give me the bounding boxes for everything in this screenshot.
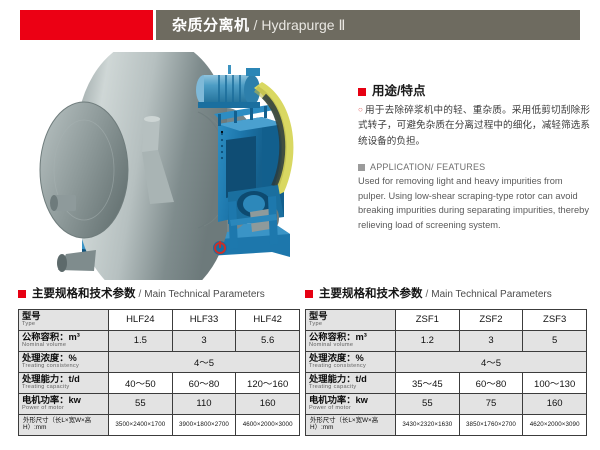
cell-value: 160 xyxy=(523,393,587,414)
cell-value: 3900×1800×2700 xyxy=(172,414,236,435)
cell-value: 160 xyxy=(236,393,300,414)
cell-value: ZSF1 xyxy=(396,309,460,330)
page-title-en: Hydrapurge Ⅱ xyxy=(261,18,345,32)
left-spec-section: 主要规格和技术参数 / Main Technical Parameters 型号… xyxy=(18,288,300,436)
description-heading-cn: 用途/特点 xyxy=(372,85,425,99)
description-panel: 用途/特点 ○用于去除碎浆机中的轻、重杂质。采用低剪切刮除形式转子，可避免杂质在… xyxy=(358,85,590,232)
row-label-en: Power of motor xyxy=(309,406,392,412)
row-label-cell: 处理浓度：% Treating consistency xyxy=(306,351,396,372)
cell-value: 1.5 xyxy=(109,330,173,351)
page-root: 杂质分离机 / Hydrapurge Ⅱ xyxy=(0,0,600,450)
right-section-heading: 主要规格和技术参数 / Main Technical Parameters xyxy=(305,288,587,301)
left-section-separator: / xyxy=(139,289,142,300)
table-row: 处理能力：t/d Treating capacity 40～50 60～80 1… xyxy=(19,372,300,393)
row-label-cell: 公称容积：m³ Nominal volume xyxy=(306,330,396,351)
hydrapurge-machine-illustration xyxy=(22,52,342,280)
cell-value: 4620×2000×3090 xyxy=(523,414,587,435)
product-photo xyxy=(22,52,342,280)
right-section-heading-cn: 主要规格和技术参数 xyxy=(319,288,423,301)
header-title-bar: 杂质分离机 / Hydrapurge Ⅱ xyxy=(156,10,580,40)
cell-value: 5 xyxy=(523,330,587,351)
header-red-block xyxy=(20,10,153,40)
cell-value: 3850×1760×2700 xyxy=(459,414,523,435)
cell-value: 110 xyxy=(172,393,236,414)
row-label-en: Treating consistency xyxy=(309,364,392,370)
cell-value: HLF24 xyxy=(109,309,173,330)
description-body-en: Used for removing light and heavy impuri… xyxy=(358,174,590,232)
table-row: 型号 Type ZSF1 ZSF2 ZSF3 xyxy=(306,309,587,330)
row-label-cell: 外形尺寸（长L×宽W×高H）:mm xyxy=(306,414,396,435)
row-label-cell: 型号 Type xyxy=(19,309,109,330)
row-label-cn: 外形尺寸（长L×宽W×高H）:mm xyxy=(310,418,392,431)
cell-value: 4600×2000×3000 xyxy=(236,414,300,435)
row-label-cell: 处理能力：t/d Treating capacity xyxy=(306,372,396,393)
table-row: 电机功率：kw Power of motor 55 75 160 xyxy=(306,393,587,414)
red-square-bullet-icon xyxy=(18,290,26,298)
right-section-heading-en: Main Technical Parameters xyxy=(431,289,551,300)
table-row: 外形尺寸（长L×宽W×高H）:mm 3430×2320×1630 3850×17… xyxy=(306,414,587,435)
row-label-cell: 电机功率：kw Power of motor xyxy=(19,393,109,414)
row-label-en: Treating capacity xyxy=(309,385,392,391)
description-heading-en-wrap: APPLICATION/ FEATURES xyxy=(358,162,590,172)
cell-value: 40～50 xyxy=(109,372,173,393)
cell-value: 1.2 xyxy=(396,330,460,351)
page-header: 杂质分离机 / Hydrapurge Ⅱ xyxy=(20,10,580,40)
table-row: 电机功率：kw Power of motor 55 110 160 xyxy=(19,393,300,414)
description-body-cn-wrap: ○用于去除碎浆机中的轻、重杂质。采用低剪切刮除形式转子，可避免杂质在分离过程中的… xyxy=(358,103,590,150)
table-row: 公称容积：m³ Nominal volume 1.5 3 5.6 xyxy=(19,330,300,351)
cell-value: HLF42 xyxy=(236,309,300,330)
table-row: 外形尺寸（长L×宽W×高H）:mm 3500×2400×1700 3900×18… xyxy=(19,414,300,435)
cell-value: HLF33 xyxy=(172,309,236,330)
row-label-cell: 处理能力：t/d Treating capacity xyxy=(19,372,109,393)
row-label-en: Power of motor xyxy=(22,406,105,412)
row-label-cell: 公称容积：m³ Nominal volume xyxy=(19,330,109,351)
cell-value-merged: 4～5 xyxy=(396,351,587,372)
cell-value: 75 xyxy=(459,393,523,414)
right-spec-section: 主要规格和技术参数 / Main Technical Parameters 型号… xyxy=(305,288,587,436)
cell-value: ZSF2 xyxy=(459,309,523,330)
cell-value: 60～80 xyxy=(172,372,236,393)
row-label-en: Treating consistency xyxy=(22,364,105,370)
table-row: 处理浓度：% Treating consistency 4～5 xyxy=(306,351,587,372)
cell-value: 5.6 xyxy=(236,330,300,351)
cell-value: 55 xyxy=(396,393,460,414)
cell-value: 60～80 xyxy=(459,372,523,393)
title-separator: / xyxy=(254,18,258,32)
cell-value: 3500×2400×1700 xyxy=(109,414,173,435)
cell-value: 3430×2320×1630 xyxy=(396,414,460,435)
row-label-en: Nominal volume xyxy=(309,343,392,349)
row-label-en: Nominal volume xyxy=(22,343,105,349)
circle-bullet-icon: ○ xyxy=(358,105,363,114)
description-heading-en: APPLICATION/ FEATURES xyxy=(370,162,485,172)
row-label-en: Treating capacity xyxy=(22,385,105,391)
page-title-cn: 杂质分离机 xyxy=(172,18,250,33)
table-row: 型号 Type HLF24 HLF33 HLF42 xyxy=(19,309,300,330)
cell-value: 55 xyxy=(109,393,173,414)
table-row: 公称容积：m³ Nominal volume 1.2 3 5 xyxy=(306,330,587,351)
red-square-bullet-icon xyxy=(358,88,366,96)
row-label-cell: 电机功率：kw Power of motor xyxy=(306,393,396,414)
left-section-heading: 主要规格和技术参数 / Main Technical Parameters xyxy=(18,288,300,301)
left-section-heading-en: Main Technical Parameters xyxy=(144,289,264,300)
row-label-en: Type xyxy=(22,322,105,328)
description-heading: 用途/特点 xyxy=(358,85,590,99)
cell-value-merged: 4～5 xyxy=(109,351,300,372)
description-body-cn: 用于去除碎浆机中的轻、重杂质。采用低剪切刮除形式转子，可避免杂质在分离过程中的细… xyxy=(358,105,590,147)
row-label-cell: 型号 Type xyxy=(306,309,396,330)
cell-value: 100～130 xyxy=(523,372,587,393)
cell-value: 35～45 xyxy=(396,372,460,393)
cell-value: ZSF3 xyxy=(523,309,587,330)
table-row: 处理浓度：% Treating consistency 4～5 xyxy=(19,351,300,372)
left-spec-table: 型号 Type HLF24 HLF33 HLF42 公称容积：m³ Nomina… xyxy=(18,309,300,436)
cell-value: 120～160 xyxy=(236,372,300,393)
right-section-separator: / xyxy=(426,289,429,300)
red-square-bullet-icon xyxy=(305,290,313,298)
row-label-cell: 外形尺寸（长L×宽W×高H）:mm xyxy=(19,414,109,435)
gray-square-bullet-icon xyxy=(358,164,365,171)
row-label-cn: 外形尺寸（长L×宽W×高H）:mm xyxy=(23,418,105,431)
row-label-cell: 处理浓度：% Treating consistency xyxy=(19,351,109,372)
left-section-heading-cn: 主要规格和技术参数 xyxy=(32,288,136,301)
table-row: 处理能力：t/d Treating capacity 35～45 60～80 1… xyxy=(306,372,587,393)
row-label-en: Type xyxy=(309,322,392,328)
cell-value: 3 xyxy=(172,330,236,351)
right-spec-table: 型号 Type ZSF1 ZSF2 ZSF3 公称容积：m³ Nominal v… xyxy=(305,309,587,436)
cell-value: 3 xyxy=(459,330,523,351)
